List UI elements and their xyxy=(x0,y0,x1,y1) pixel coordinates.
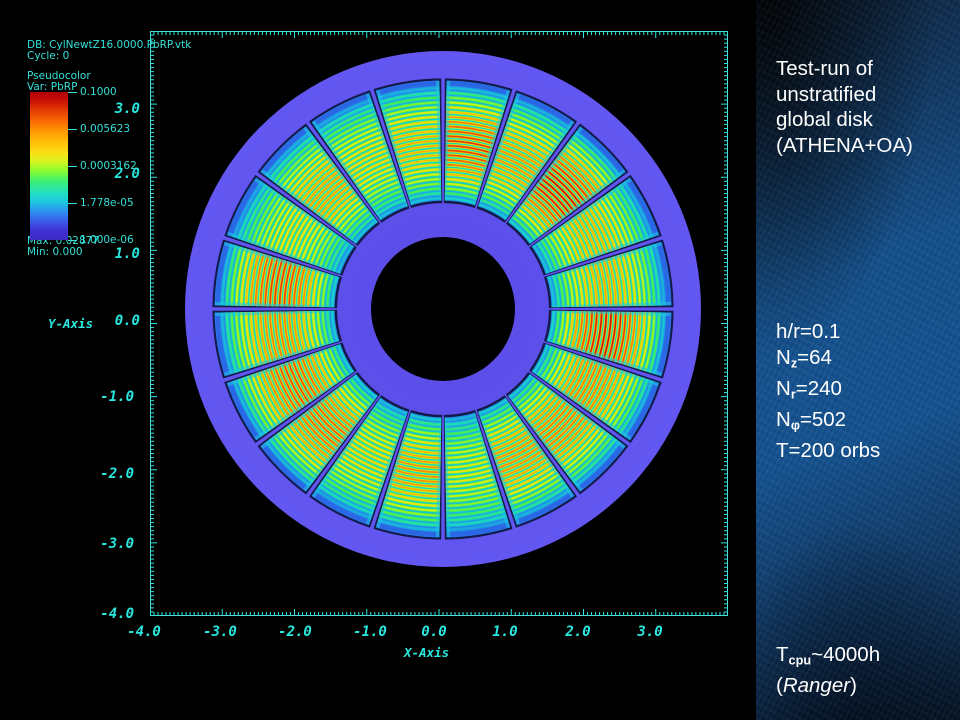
x-tick-label: 1.0 xyxy=(475,624,535,640)
param-symbol: N xyxy=(776,346,791,369)
param-subscript: φ xyxy=(791,417,800,432)
y-tick-label: -3.0 xyxy=(82,536,134,552)
param-symbol: N xyxy=(776,377,791,400)
simulation-parameters: h/r=0.1 Nz=64 Nr=240 Nφ=502 T=200 orbs xyxy=(776,319,960,463)
axis-tick-marks xyxy=(150,31,728,616)
x-tick-label: 0.0 xyxy=(404,624,464,640)
param-symbol: N xyxy=(776,408,791,431)
param-value: =64 xyxy=(797,346,832,369)
min-value-label: Min: 0.000 xyxy=(27,246,83,258)
colorbar-tick-label: 1.000e-06 xyxy=(80,234,134,246)
machine-name: (Ranger) xyxy=(776,673,960,699)
param-value: =502 xyxy=(800,408,846,431)
cpu-subscript: cpu xyxy=(789,653,812,668)
paren-close: ) xyxy=(850,674,857,697)
param-nz: Nz=64 xyxy=(776,345,960,376)
colorbar-tick-0: 0.1000 xyxy=(68,86,117,98)
heading-line: (ATHENA+OA) xyxy=(776,133,960,159)
x-tick-label: -4.0 xyxy=(114,624,174,640)
paren-open: ( xyxy=(776,674,783,697)
colorbar-gradient xyxy=(30,92,68,240)
y-tick-label: -4.0 xyxy=(82,606,134,622)
param-aspect-ratio: h/r=0.1 xyxy=(776,319,960,345)
visit-viewport: DB: CylNewtZ16.0000.PbRP.vtk Cycle: 0 Ps… xyxy=(0,0,756,720)
param-time: T=200 orbs xyxy=(776,438,960,464)
cycle-label: Cycle: 0 xyxy=(27,50,69,62)
param-value: =240 xyxy=(796,377,842,400)
colorbar-tick-label: 1.778e-05 xyxy=(80,197,134,209)
y-tick-label: 3.0 xyxy=(88,101,140,117)
y-tick-label: 1.0 xyxy=(88,246,140,262)
slide-text-panel: Test-run of unstratified global disk (AT… xyxy=(756,0,960,720)
cpu-symbol: T xyxy=(776,643,789,666)
x-tick-label: 3.0 xyxy=(620,624,680,640)
colorbar-tick-4: 1.000e-06 xyxy=(68,234,134,246)
colorbar-tick-3: 1.778e-05 xyxy=(68,197,134,209)
machine-label: Ranger xyxy=(783,674,850,697)
colorbar-tick-label: 0.005623 xyxy=(80,123,130,135)
heading-line: unstratified xyxy=(776,82,960,108)
y-tick-label: 0.0 xyxy=(88,313,140,329)
x-tick-label: -1.0 xyxy=(340,624,400,640)
colorbar-tick-label: 0.1000 xyxy=(80,86,117,98)
param-nr: Nr=240 xyxy=(776,376,960,407)
param-nphi: Nφ=502 xyxy=(776,407,960,438)
x-tick-label: -3.0 xyxy=(190,624,250,640)
slide-root: DB: CylNewtZ16.0000.PbRP.vtk Cycle: 0 Ps… xyxy=(0,0,960,720)
heading-line: global disk xyxy=(776,107,960,133)
y-tick-label: -1.0 xyxy=(82,389,134,405)
heading-line: Test-run of xyxy=(776,56,960,82)
x-tick-label: -2.0 xyxy=(265,624,325,640)
colorbar-legend: 0.1000 0.005623 0.0003162 1.778e-05 1.00… xyxy=(30,92,68,240)
x-axis-title: X-Axis xyxy=(404,645,449,660)
cpu-time: Tcpu~4000h xyxy=(776,642,960,673)
slide-heading: Test-run of unstratified global disk (AT… xyxy=(776,56,960,158)
cpu-value: ~4000h xyxy=(811,643,880,666)
x-tick-label: 2.0 xyxy=(548,624,608,640)
colorbar-tick-1: 0.005623 xyxy=(68,123,130,135)
y-tick-label: 2.0 xyxy=(88,166,140,182)
cpu-time-block: Tcpu~4000h (Ranger) xyxy=(776,642,960,699)
y-tick-label: -2.0 xyxy=(82,466,134,482)
y-axis-title: Y-Axis xyxy=(48,316,93,331)
